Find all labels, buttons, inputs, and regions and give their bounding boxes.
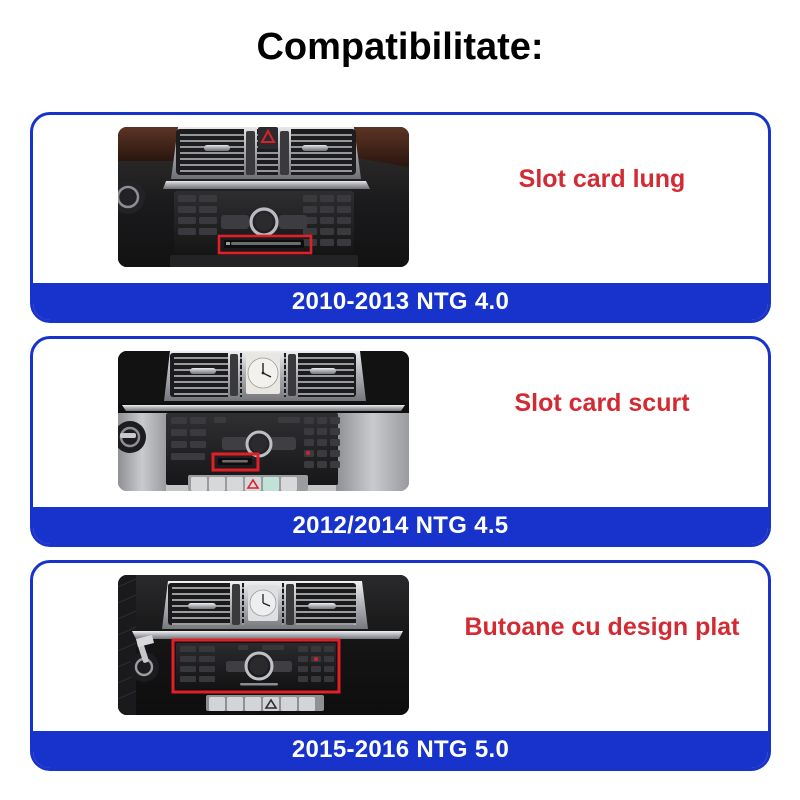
panel-caption-ntg-4-0: Slot card lung	[433, 165, 771, 194]
panel-caption-ntg-5-0: Butoane cu design plat	[433, 613, 771, 642]
mercedes-console-illustration	[118, 575, 409, 715]
mercedes-console-illustration	[118, 351, 409, 491]
page-title: Compatibilitate:	[0, 28, 800, 66]
panel-caption-ntg-4-5: Slot card scurt	[433, 389, 771, 418]
mercedes-console-illustration	[118, 127, 409, 267]
compatibility-panel-ntg-4-0[interactable]: Slot card lung 2010-2013 NTG 4.0	[30, 112, 771, 323]
panel-footer-ntg-4-5: 2012/2014 NTG 4.5	[33, 507, 768, 544]
panel-body: Slot card lung	[33, 115, 768, 286]
compatibility-panel-list: Slot card lung 2010-2013 NTG 4.0	[30, 112, 771, 784]
console-photo-ntg-4-0	[118, 127, 409, 267]
panel-body: Slot card scurt	[33, 339, 768, 510]
console-photo-ntg-5-0	[118, 575, 409, 715]
compatibility-panel-ntg-4-5[interactable]: Slot card scurt 2012/2014 NTG 4.5	[30, 336, 771, 547]
panel-body: Butoane cu design plat	[33, 563, 768, 734]
compatibility-panel-ntg-5-0[interactable]: Butoane cu design plat 2015-2016 NTG 5.0	[30, 560, 771, 771]
panel-footer-ntg-4-0: 2010-2013 NTG 4.0	[33, 283, 768, 320]
console-photo-ntg-4-5	[118, 351, 409, 491]
panel-footer-ntg-5-0: 2015-2016 NTG 5.0	[33, 731, 768, 768]
